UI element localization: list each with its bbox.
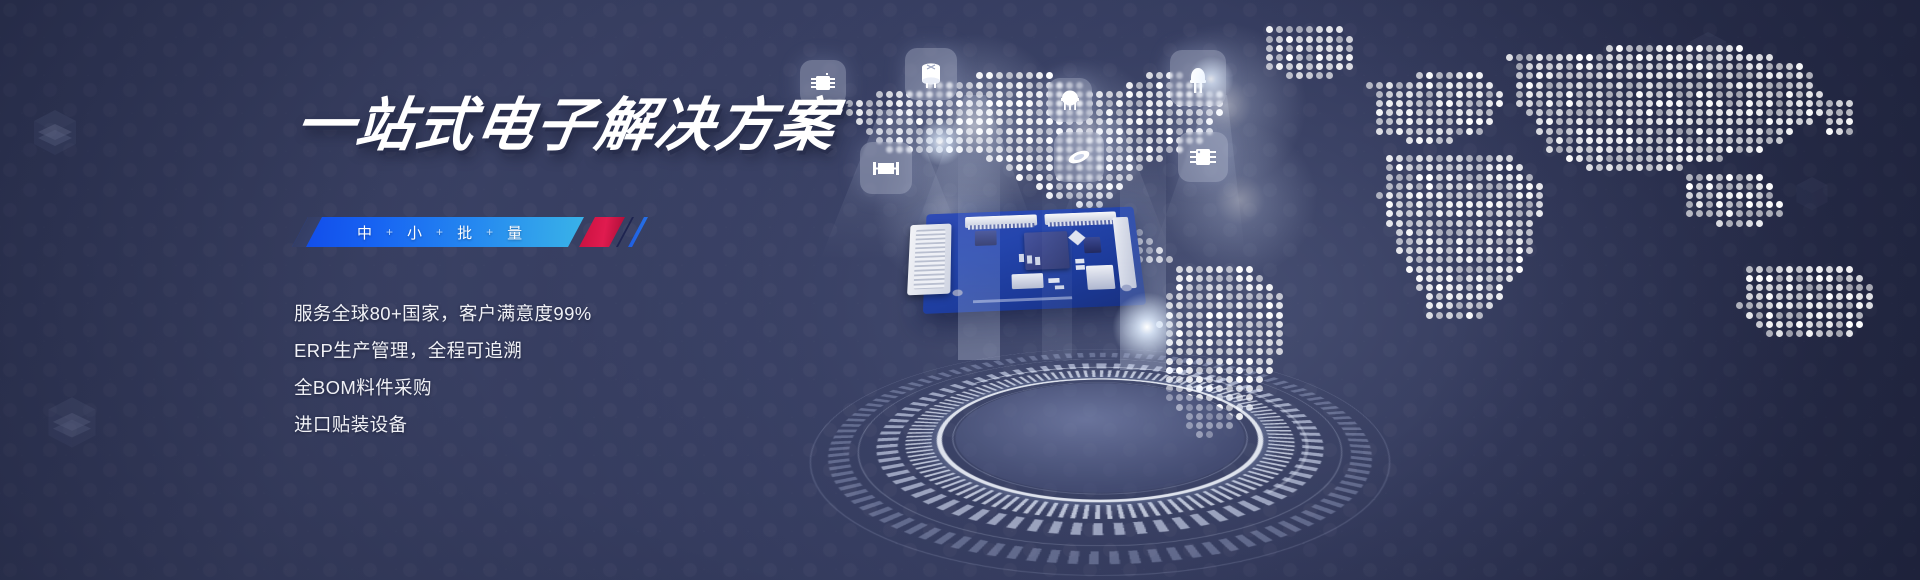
map-dot [1186, 321, 1193, 328]
map-dot [1566, 100, 1573, 107]
map-dot [1766, 118, 1773, 125]
map-dot [1836, 100, 1843, 107]
map-dot [1846, 128, 1853, 135]
map-dot [1736, 72, 1743, 79]
map-dot [1616, 100, 1623, 107]
map-dot [1486, 201, 1493, 208]
map-dot [1706, 118, 1713, 125]
map-dot [1086, 192, 1093, 199]
map-dot [1396, 109, 1403, 116]
map-dot [1756, 54, 1763, 61]
map-dot [1816, 109, 1823, 116]
map-dot [1586, 137, 1593, 144]
map-dot [936, 128, 943, 135]
map-dot [1446, 100, 1453, 107]
map-dot [1626, 109, 1633, 116]
map-dot [1116, 155, 1123, 162]
map-dot [1276, 63, 1283, 70]
map-dot [1456, 210, 1463, 217]
map-dot [1396, 100, 1403, 107]
map-dot [866, 100, 873, 107]
map-dot [1586, 91, 1593, 98]
map-dot [1736, 302, 1743, 309]
map-dot [1296, 54, 1303, 61]
map-dot [1196, 118, 1203, 125]
map-dot [1666, 63, 1673, 70]
map-dot [1726, 137, 1733, 144]
map-dot [1246, 348, 1253, 355]
map-dot [1416, 229, 1423, 236]
map-dot [1256, 348, 1263, 355]
map-dot [1406, 266, 1413, 273]
map-dot [1326, 36, 1333, 43]
map-dot [1816, 266, 1823, 273]
map-dot [1746, 109, 1753, 116]
map-dot [1216, 293, 1223, 300]
map-dot [1586, 164, 1593, 171]
map-dot [1416, 137, 1423, 144]
map-dot [1226, 275, 1233, 282]
map-dot [1536, 109, 1543, 116]
map-dot [1726, 183, 1733, 190]
map-dot [1386, 201, 1393, 208]
map-dot [1436, 128, 1443, 135]
map-dot [1196, 275, 1203, 282]
map-dot [1566, 128, 1573, 135]
map-dot [1476, 128, 1483, 135]
map-dot [1146, 128, 1153, 135]
map-dot [1536, 128, 1543, 135]
map-dot [1516, 91, 1523, 98]
map-dot [1736, 210, 1743, 217]
map-dot [1426, 284, 1433, 291]
map-dot [1766, 109, 1773, 116]
map-dot [1466, 275, 1473, 282]
map-dot [1786, 63, 1793, 70]
map-dot [1256, 293, 1263, 300]
map-dot [1706, 91, 1713, 98]
map-dot [1146, 118, 1153, 125]
map-dot [1446, 128, 1453, 135]
map-dot [1216, 348, 1223, 355]
map-dot [1466, 100, 1473, 107]
map-dot [1466, 229, 1473, 236]
map-dot [1016, 109, 1023, 116]
map-dot [1736, 82, 1743, 89]
map-dot [1326, 54, 1333, 61]
map-dot [1266, 63, 1273, 70]
map-dot [1746, 266, 1753, 273]
map-dot [1036, 72, 1043, 79]
map-dot [906, 100, 913, 107]
map-dot [946, 146, 953, 153]
map-dot [1616, 45, 1623, 52]
map-dot [1196, 293, 1203, 300]
map-dot [1516, 82, 1523, 89]
map-dot [1596, 100, 1603, 107]
map-dot [1776, 72, 1783, 79]
map-dot [986, 128, 993, 135]
map-dot [1706, 146, 1713, 153]
map-dot [1426, 137, 1433, 144]
map-dot [1406, 91, 1413, 98]
map-dot [1656, 137, 1663, 144]
map-dot [1176, 312, 1183, 319]
ribbon-label-group: 中 + 小 + 批 + 量 [344, 217, 536, 247]
map-dot [1396, 128, 1403, 135]
map-dot [896, 100, 903, 107]
map-dot [1166, 137, 1173, 144]
map-dot [1316, 72, 1323, 79]
map-dot [1486, 275, 1493, 282]
map-dot [1856, 293, 1863, 300]
map-dot [1686, 174, 1693, 181]
map-dot [1396, 118, 1403, 125]
map-dot [1756, 72, 1763, 79]
map-dot [896, 109, 903, 116]
map-dot [1496, 275, 1503, 282]
map-dot [1766, 284, 1773, 291]
map-dot [1646, 54, 1653, 61]
map-dot [986, 118, 993, 125]
map-dot [1176, 302, 1183, 309]
map-dot [866, 118, 873, 125]
map-dot [1386, 192, 1393, 199]
map-dot [1726, 174, 1733, 181]
map-dot [1736, 128, 1743, 135]
map-dot [1106, 155, 1113, 162]
map-dot [1406, 100, 1413, 107]
map-dot [1506, 164, 1513, 171]
ic-chip-icon [1178, 132, 1228, 182]
map-dot [1286, 72, 1293, 79]
map-dot [1706, 210, 1713, 217]
map-dot [1636, 137, 1643, 144]
map-dot [1456, 91, 1463, 98]
map-dot [1456, 100, 1463, 107]
map-dot [1596, 72, 1603, 79]
map-dot [1706, 109, 1713, 116]
map-dot [1186, 312, 1193, 319]
map-dot [1686, 45, 1693, 52]
map-dot [1256, 321, 1263, 328]
map-dot [996, 72, 1003, 79]
map-dot [1386, 220, 1393, 227]
map-dot [1466, 201, 1473, 208]
map-dot [1626, 137, 1633, 144]
map-dot [1426, 210, 1433, 217]
map-dot [1486, 100, 1493, 107]
map-dot [1026, 128, 1033, 135]
map-dot [1576, 63, 1583, 70]
map-dot [1746, 183, 1753, 190]
map-dot [996, 109, 1003, 116]
map-dot [1396, 238, 1403, 245]
map-dot [1766, 54, 1773, 61]
map-dot [1536, 201, 1543, 208]
map-dot [1786, 330, 1793, 337]
map-dot [886, 100, 893, 107]
map-dot [1756, 302, 1763, 309]
map-dot [1186, 275, 1193, 282]
map-dot [1486, 256, 1493, 263]
map-dot [1436, 109, 1443, 116]
map-dot [1516, 220, 1523, 227]
map-dot [1686, 155, 1693, 162]
map-dot [1286, 63, 1293, 70]
map-dot [906, 137, 913, 144]
map-dot [1256, 358, 1263, 365]
map-dot [1466, 266, 1473, 273]
map-dot [1866, 302, 1873, 309]
map-dot [1206, 118, 1213, 125]
map-dot [1686, 72, 1693, 79]
map-dot [1626, 91, 1633, 98]
map-dot [1136, 91, 1143, 98]
map-dot [856, 100, 863, 107]
map-dot [1806, 293, 1813, 300]
map-dot [956, 146, 963, 153]
map-dot [1776, 266, 1783, 273]
map-dot [1456, 247, 1463, 254]
map-dot [1496, 256, 1503, 263]
map-dot [1156, 118, 1163, 125]
map-dot [946, 128, 953, 135]
map-dot [1706, 72, 1713, 79]
map-dot [1696, 91, 1703, 98]
map-dot [1686, 100, 1693, 107]
map-dot [1496, 210, 1503, 217]
map-dot [1846, 321, 1853, 328]
map-dot [1166, 293, 1173, 300]
map-dot [1586, 82, 1593, 89]
map-dot [1676, 146, 1683, 153]
map-dot [1406, 210, 1413, 217]
map-dot [1236, 339, 1243, 346]
map-dot [986, 82, 993, 89]
map-dot [1526, 247, 1533, 254]
map-dot [1336, 36, 1343, 43]
map-dot [936, 118, 943, 125]
map-dot [1486, 164, 1493, 171]
map-dot [906, 109, 913, 116]
map-dot [1206, 302, 1213, 309]
map-dot [1666, 91, 1673, 98]
map-dot [1486, 293, 1493, 300]
map-dot [1186, 109, 1193, 116]
map-dot [1736, 137, 1743, 144]
map-dot [1756, 100, 1763, 107]
map-dot [1746, 100, 1753, 107]
map-dot [1036, 100, 1043, 107]
map-dot [1746, 201, 1753, 208]
map-dot [1606, 164, 1613, 171]
map-dot [1436, 91, 1443, 98]
map-dot [1386, 174, 1393, 181]
map-dot [1426, 312, 1433, 319]
map-dot [1256, 302, 1263, 309]
map-dot [1706, 155, 1713, 162]
map-dot [1436, 220, 1443, 227]
map-dot [1446, 118, 1453, 125]
map-dot [1386, 183, 1393, 190]
map-dot [1526, 100, 1533, 107]
map-dot [1516, 174, 1523, 181]
map-dot [1426, 256, 1433, 263]
map-dot [1526, 63, 1533, 70]
map-dot [1046, 174, 1053, 181]
map-dot [1456, 201, 1463, 208]
feature-item: 全BOM料件采购 [294, 377, 592, 399]
map-dot [1596, 91, 1603, 98]
map-dot [1276, 45, 1283, 52]
map-dot [1156, 137, 1163, 144]
map-dot [1756, 63, 1763, 70]
map-dot [1436, 155, 1443, 162]
map-dot [1386, 118, 1393, 125]
map-dot [1746, 128, 1753, 135]
map-dot [1196, 302, 1203, 309]
map-dot [1226, 266, 1233, 273]
map-dot [1736, 63, 1743, 70]
map-dot [1276, 36, 1283, 43]
map-dot [1536, 210, 1543, 217]
map-dot [1816, 100, 1823, 107]
map-dot [1036, 146, 1043, 153]
map-dot [1136, 155, 1143, 162]
map-dot [1396, 192, 1403, 199]
map-dot [1026, 174, 1033, 181]
map-dot [1036, 109, 1043, 116]
map-dot [1526, 91, 1533, 98]
feature-item: 进口贴装设备 [294, 414, 592, 436]
map-dot [1406, 256, 1413, 263]
map-dot [1506, 201, 1513, 208]
map-dot [1496, 155, 1503, 162]
map-dot [1486, 91, 1493, 98]
map-dot [1566, 63, 1573, 70]
map-dot [1716, 183, 1723, 190]
map-dot [1846, 109, 1853, 116]
map-dot [1726, 146, 1733, 153]
map-dot [1546, 54, 1553, 61]
map-dot [1736, 109, 1743, 116]
map-dot [1136, 100, 1143, 107]
map-dot [1496, 229, 1503, 236]
map-dot [1786, 312, 1793, 319]
map-dot [1176, 118, 1183, 125]
map-dot [1106, 174, 1113, 181]
map-dot [1126, 155, 1133, 162]
map-dot [1536, 54, 1543, 61]
map-dot [1406, 183, 1413, 190]
map-dot [1416, 72, 1423, 79]
map-dot [1446, 192, 1453, 199]
pcb-chip [975, 230, 997, 246]
map-dot [1456, 155, 1463, 162]
map-dot [1806, 284, 1813, 291]
map-dot [1446, 247, 1453, 254]
resistor-icon [860, 142, 912, 194]
map-dot [1716, 210, 1723, 217]
map-dot [1436, 266, 1443, 273]
map-dot [1776, 210, 1783, 217]
map-dot [1606, 82, 1613, 89]
map-dot [1296, 36, 1303, 43]
map-dot [1426, 118, 1433, 125]
map-dot [1606, 100, 1613, 107]
map-dot [1366, 82, 1373, 89]
map-dot [1096, 183, 1103, 190]
map-dot [1166, 256, 1173, 263]
map-dot [1206, 330, 1213, 337]
map-dot [916, 100, 923, 107]
map-dot [1586, 118, 1593, 125]
map-dot [1666, 137, 1673, 144]
map-dot [1736, 183, 1743, 190]
map-dot [996, 82, 1003, 89]
map-dot [1626, 82, 1633, 89]
map-dot [1166, 321, 1173, 328]
map-dot [1296, 63, 1303, 70]
map-dot [1446, 284, 1453, 291]
map-dot [1766, 293, 1773, 300]
map-dot [956, 128, 963, 135]
map-dot [1236, 348, 1243, 355]
map-dot [1676, 82, 1683, 89]
map-dot [1196, 321, 1203, 328]
map-dot [1436, 247, 1443, 254]
map-dot [1446, 266, 1453, 273]
map-dot [966, 128, 973, 135]
map-dot [1806, 109, 1813, 116]
map-dot [1496, 293, 1503, 300]
map-dot [1416, 128, 1423, 135]
map-dot [1416, 238, 1423, 245]
map-dot [1596, 63, 1603, 70]
map-dot [1696, 45, 1703, 52]
map-dot [1176, 339, 1183, 346]
map-dot [1166, 118, 1173, 125]
hero-illustration [760, 0, 1920, 580]
map-dot [1186, 284, 1193, 291]
map-dot [1206, 109, 1213, 116]
map-dot [1586, 72, 1593, 79]
map-dot [1446, 256, 1453, 263]
map-dot [1786, 284, 1793, 291]
led-icon [1170, 50, 1226, 106]
map-dot [1446, 72, 1453, 79]
map-dot [1766, 321, 1773, 328]
map-dot [986, 155, 993, 162]
map-dot [1716, 82, 1723, 89]
map-dot [1576, 100, 1583, 107]
map-dot [976, 118, 983, 125]
map-dot [1166, 312, 1173, 319]
map-dot [1096, 100, 1103, 107]
map-dot [1826, 109, 1833, 116]
map-dot [1756, 192, 1763, 199]
map-dot [1566, 137, 1573, 144]
map-dot [1636, 72, 1643, 79]
map-dot [1656, 54, 1663, 61]
map-dot [1426, 201, 1433, 208]
map-dot [1446, 155, 1453, 162]
map-dot [1786, 321, 1793, 328]
map-dot [1316, 26, 1323, 33]
map-dot [1226, 348, 1233, 355]
map-dot [1796, 72, 1803, 79]
